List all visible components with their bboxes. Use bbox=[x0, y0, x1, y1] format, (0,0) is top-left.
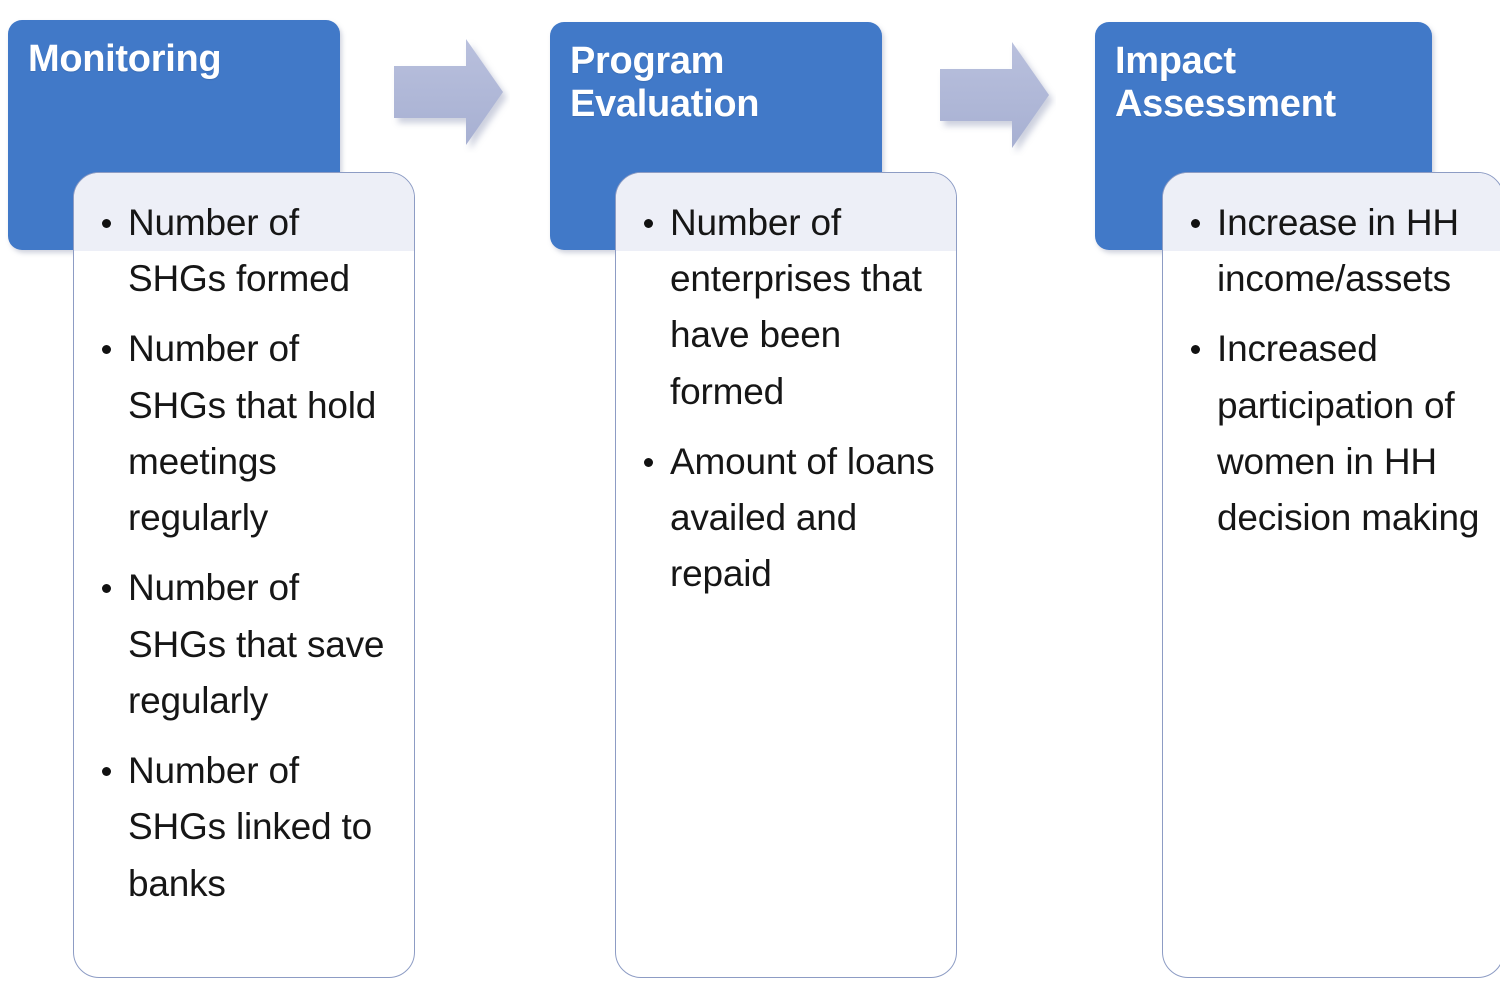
list-item-text: Increased participation of women in HH d… bbox=[1217, 328, 1479, 538]
list-item: Increased participation of women in HH d… bbox=[1177, 321, 1493, 546]
list-item: Number of SHGs that save regularly bbox=[88, 560, 398, 729]
stage-header-label: Program Evaluation bbox=[570, 40, 872, 125]
list-item-text: Number of SHGs formed bbox=[128, 202, 350, 299]
list-item-text: Number of SHGs linked to banks bbox=[128, 750, 372, 903]
stage-card-program-evaluation[interactable]: Number of enterprises that have been for… bbox=[615, 172, 957, 978]
stage-bullet-list-program-evaluation: Number of enterprises that have been for… bbox=[630, 195, 946, 603]
arrow-evaluation-to-impact bbox=[936, 38, 1056, 156]
stage-header-label: Monitoring bbox=[28, 38, 330, 81]
right-block-arrow-icon bbox=[936, 38, 1056, 156]
list-item: Number of SHGs that hold meetings regula… bbox=[88, 321, 398, 546]
list-item: Increase in HH income/assets bbox=[1177, 195, 1493, 307]
stage-bullet-list-impact-assessment: Increase in HH income/assets Increased p… bbox=[1177, 195, 1493, 546]
list-item-text: Increase in HH income/assets bbox=[1217, 202, 1459, 299]
right-block-arrow-icon bbox=[390, 35, 510, 153]
stage-header-label: Impact Assessment bbox=[1115, 40, 1422, 125]
list-item-text: Number of SHGs that save regularly bbox=[128, 567, 384, 720]
list-item: Number of enterprises that have been for… bbox=[630, 195, 946, 420]
list-item-text: Amount of loans availed and repaid bbox=[670, 441, 934, 594]
diagram-canvas: Monitoring Number of SHGs formed Number … bbox=[0, 0, 1500, 1000]
stage-card-impact-assessment[interactable]: Increase in HH income/assets Increased p… bbox=[1162, 172, 1500, 978]
list-item-text: Number of enterprises that have been for… bbox=[670, 202, 922, 412]
stage-bullet-list-monitoring: Number of SHGs formed Number of SHGs tha… bbox=[88, 195, 398, 912]
list-item-text: Number of SHGs that hold meetings regula… bbox=[128, 328, 376, 538]
arrow-monitoring-to-evaluation bbox=[390, 35, 510, 153]
list-item: Number of SHGs formed bbox=[88, 195, 398, 307]
stage-card-monitoring[interactable]: Number of SHGs formed Number of SHGs tha… bbox=[73, 172, 415, 978]
list-item: Amount of loans availed and repaid bbox=[630, 434, 946, 603]
list-item: Number of SHGs linked to banks bbox=[88, 743, 398, 912]
